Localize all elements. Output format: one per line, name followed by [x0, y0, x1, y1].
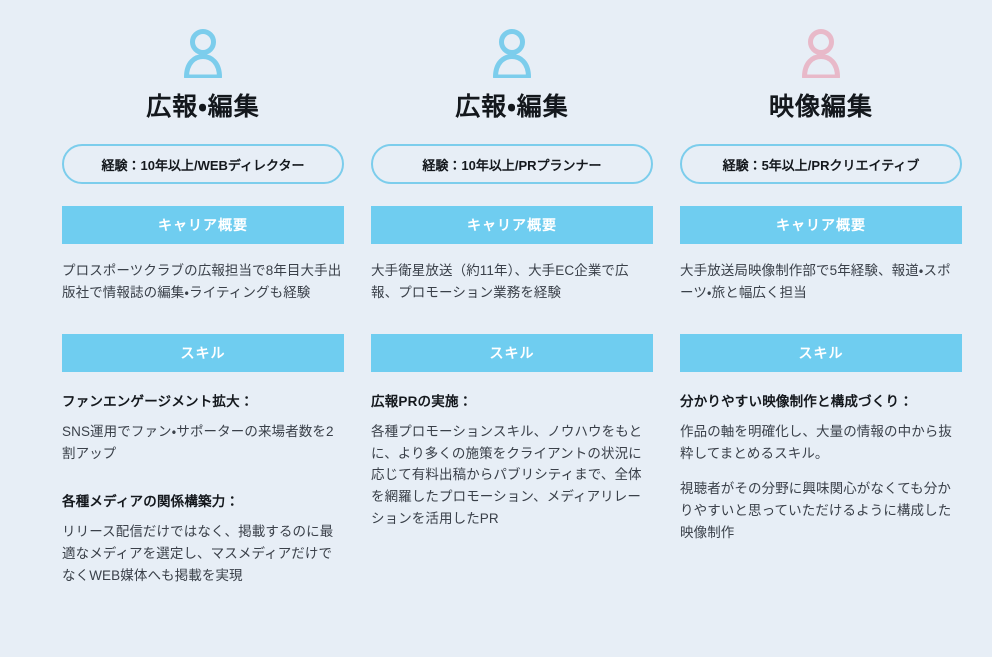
career-summary-text: 大手放送局映像制作部で5年経験、報道・スポーツ・旅と幅広く担当 — [680, 260, 962, 304]
skill-block: 分かりやすい映像制作と構成づくり： 作品の軸を明確化し、大量の情報の中から抜粋し… — [680, 390, 962, 544]
career-summary-bar: キャリア概要 — [62, 206, 344, 244]
skill-block: 広報PRの実施： 各種プロモーションスキル、ノウハウをもとに、より多くの施策をク… — [371, 390, 653, 530]
experience-badge: 経験：10年以上/WEBディレクター — [62, 144, 344, 184]
profile-card-3: 映像編集 経験：5年以上/PRクリエイティブ キャリア概要 大手放送局映像制作部… — [680, 22, 962, 544]
page-title: 広報・編集 — [371, 92, 653, 122]
skill-body: 作品の軸を明確化し、大量の情報の中から抜粋してまとめるスキル。 — [680, 421, 962, 465]
skill-block: ファンエンゲージメント拡大： SNS運用でファン・サポーターの来場者数を2割アッ… — [62, 390, 344, 465]
skills-bar: スキル — [680, 334, 962, 372]
skill-heading: 各種メディアの関係構築力： — [62, 490, 344, 510]
skill-body: 視聴者がその分野に興味関心がなくても分かりやすいと思っていただけるように構成した… — [680, 478, 962, 544]
profile-card-2: 広報・編集 経験：10年以上/PRプランナー キャリア概要 大手衛星放送（約11… — [371, 22, 653, 530]
skills-bar: スキル — [371, 334, 653, 372]
career-summary-bar: キャリア概要 — [371, 206, 653, 244]
career-summary-text: 大手衛星放送（約11年）、大手EC企業で広報、プロモーション業務を経験 — [371, 260, 653, 304]
skill-heading: ファンエンゲージメント拡大： — [62, 390, 344, 410]
skill-block: 各種メディアの関係構築力： リリース配信だけではなく、掲載するのに最適なメディア… — [62, 490, 344, 587]
skill-body: SNS運用でファン・サポーターの来場者数を2割アップ — [62, 421, 344, 465]
experience-badge: 経験：5年以上/PRクリエイティブ — [680, 144, 962, 184]
skill-body: 各種プロモーションスキル、ノウハウをもとに、より多くの施策をクライアントの状況に… — [371, 421, 653, 530]
experience-badge: 経験：10年以上/PRプランナー — [371, 144, 653, 184]
skill-heading: 分かりやすい映像制作と構成づくり： — [680, 390, 962, 410]
person-icon — [62, 22, 344, 84]
skills-bar: スキル — [62, 334, 344, 372]
career-summary-bar: キャリア概要 — [680, 206, 962, 244]
career-summary-text: プロスポーツクラブの広報担当で8年目大手出版社で情報誌の編集・ライティングも経験 — [62, 260, 344, 304]
person-icon — [371, 22, 653, 84]
skill-body: リリース配信だけではなく、掲載するのに最適なメディアを選定し、マスメディアだけで… — [62, 521, 344, 587]
page-title: 映像編集 — [680, 92, 962, 122]
page-title: 広報・編集 — [62, 92, 344, 122]
profile-card-1: 広報・編集 経験：10年以上/WEBディレクター キャリア概要 プロスポーツクラ… — [62, 22, 344, 587]
skill-heading: 広報PRの実施： — [371, 390, 653, 410]
profile-card-board: 広報・編集 経験：10年以上/WEBディレクター キャリア概要 プロスポーツクラ… — [0, 0, 992, 657]
person-icon — [680, 22, 962, 84]
